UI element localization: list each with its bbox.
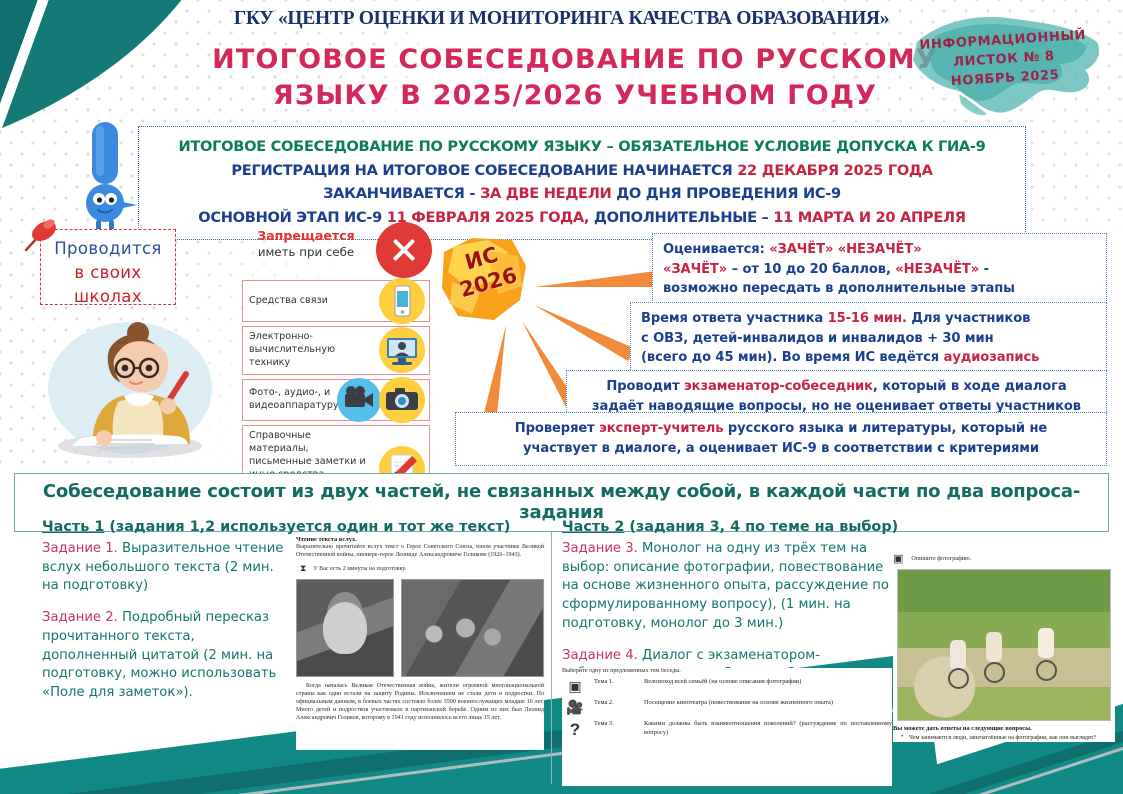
scan-body-text: Когда началась Великая Отечественная вой… bbox=[296, 682, 544, 722]
expert-info-box: Проверяет эксперт-учитель русского языка… bbox=[455, 412, 1107, 466]
timing-line-2: с ОВЗ, детей-инвалидов и инвалидов + 30 … bbox=[641, 329, 1096, 349]
prohibited-item-row: Фото-, аудио-, и видеоаппаратуру bbox=[242, 379, 430, 421]
photo-description-scan: ▣ Опишите фотографию. Вы можете дать отв… bbox=[893, 552, 1115, 742]
student-writing-illustration bbox=[18, 318, 236, 468]
timing-duration: 15-16 мин. bbox=[828, 311, 907, 326]
assessment-fail-label: «НЕЗАЧЁТ» bbox=[895, 262, 979, 277]
assessment-line-1-prefix: Оценивается: bbox=[663, 242, 769, 257]
page-title: ИТОГОВОЕ СОБЕСЕДОВАНИЕ ПО РУССКОМУ ЯЗЫКУ… bbox=[195, 42, 955, 115]
banner-line-4: ОСНОВНОЙ ЭТАП ИС-9 11 ФЕВРАЛЯ 2025 ГОДА,… bbox=[149, 206, 1015, 230]
theme-label: Тема 1. bbox=[594, 678, 638, 685]
examiner-line-1-prefix: Проводит bbox=[606, 379, 684, 394]
theme-text: Велопоход всей семьёй (на основе описани… bbox=[644, 678, 892, 687]
banner-line-3-suffix: ДО ДНЯ ПРОВЕДЕНИЯ ИС-9 bbox=[616, 185, 841, 202]
photo-questions-title: Вы можете дать ответы на следующие вопро… bbox=[893, 725, 1115, 732]
banner-line-4-prefix: ОСНОВНОЙ ЭТАП ИС-9 bbox=[198, 209, 387, 226]
movie-camera-icon: 🎥 bbox=[562, 699, 588, 716]
cross-icon bbox=[376, 222, 432, 278]
banner-line-3-prefix: ЗАКАНЧИВАЕТСЯ - bbox=[323, 185, 480, 202]
pushpin-icon bbox=[18, 214, 62, 258]
photo-camera-icon: ▣ bbox=[562, 678, 588, 695]
banner-line-4-main-date: 11 ФЕВРАЛЯ 2025 ГОДА, bbox=[387, 209, 589, 226]
banner-line-2-prefix: РЕГИСТРАЦИЯ НА ИТОГОВОЕ СОБЕСЕДОВАНИЕ НА… bbox=[231, 162, 737, 179]
part1-heading: Часть 1 (задания 1,2 используется один и… bbox=[42, 518, 510, 536]
examiner-line-1: Проводит экзаменатор-собеседник, который… bbox=[577, 377, 1096, 397]
parts-divider bbox=[551, 512, 552, 784]
banner-line-4-extra-dates: 11 МАРТА И 20 АПРЕЛЯ bbox=[773, 209, 965, 226]
venue-line-2: в своих bbox=[41, 261, 175, 285]
task-4-number: Задание 4. bbox=[562, 648, 638, 663]
photo-caption: Опишите фотографию. bbox=[911, 556, 971, 562]
prohibited-items-header: Запрещается иметь при себе bbox=[242, 228, 430, 280]
poster-canvas: ГКУ «ЦЕНТР ОЦЕНКИ И МОНИТОРИНГА КАЧЕСТВА… bbox=[0, 0, 1123, 794]
assessment-score-range: – от 10 до 20 баллов, bbox=[727, 262, 895, 277]
prohibited-item-label: Электронно-вычислительную технику bbox=[249, 331, 371, 370]
prohibited-item-row: Электронно-вычислительную технику bbox=[242, 326, 430, 375]
question-mark-icon: ? bbox=[562, 720, 588, 740]
timing-line-1-prefix: Время ответа участника bbox=[641, 311, 828, 326]
theme-label: Тема 2. bbox=[594, 699, 638, 706]
scan-heading: Чтение текста вслух. bbox=[296, 536, 544, 543]
smartphone-icon bbox=[379, 278, 425, 324]
expert-line-1-suffix: русского языка и литературы, который не bbox=[723, 421, 1047, 436]
timing-line-1: Время ответа участника 15-16 мин. Для уч… bbox=[641, 309, 1096, 329]
scan-timer-note: У Вас есть 2 минуты на подготовку. bbox=[313, 566, 406, 572]
banner-line-2-date: 22 ДЕКАБРЯ 2025 ГОДА bbox=[737, 162, 932, 179]
assessment-line-1: Оценивается: «ЗАЧЁТ» «НЕЗАЧЁТ» bbox=[663, 240, 1096, 260]
hourglass-icon: ⧗ bbox=[300, 563, 306, 574]
banner-line-2: РЕГИСТРАЦИЯ НА ИТОГОВОЕ СОБЕСЕДОВАНИЕ НА… bbox=[149, 159, 1015, 183]
assessment-line-1-values: «ЗАЧЁТ» «НЕЗАЧЁТ» bbox=[769, 242, 921, 257]
venue-line-3: школах bbox=[41, 285, 175, 309]
expert-line-1: Проверяет эксперт-учитель русского языка… bbox=[466, 419, 1096, 439]
banner-line-4-mid: ДОПОЛНИТЕЛЬНЫЕ – bbox=[589, 209, 773, 226]
theme-row: ▣ Тема 1. Велопоход всей семьёй (на осно… bbox=[562, 678, 892, 695]
theme-row: ? Тема 3. Какими должны быть взаимоотнош… bbox=[562, 720, 892, 740]
video-camera-icon bbox=[337, 378, 381, 422]
timing-info-box: Время ответа участника 15-16 мин. Для уч… bbox=[630, 302, 1107, 376]
expert-role: эксперт-учитель bbox=[599, 421, 723, 436]
theme-text: Какими должны быть взаимоотношения покол… bbox=[644, 720, 892, 737]
is-2026-sticker: ИС 2026 bbox=[442, 236, 528, 322]
prohibited-title: Запрещается bbox=[242, 228, 370, 243]
portrait-photo bbox=[296, 579, 394, 677]
photo-camera-icon bbox=[379, 377, 425, 423]
part1-subtitle: (задания 1,2 используется один и тот же … bbox=[104, 519, 510, 535]
examiner-role: экзаменатор-собеседник bbox=[684, 379, 873, 394]
banner-line-1: ИТОГОВОЕ СОБЕСЕДОВАНИЕ ПО РУССКОМУ ЯЗЫКУ… bbox=[149, 135, 1015, 159]
assessment-line-2: «ЗАЧЁТ» – от 10 до 20 баллов, «НЕЗАЧЁТ» … bbox=[663, 260, 1096, 280]
reading-task-scan: Чтение текста вслух. Выразительно прочит… bbox=[296, 536, 544, 750]
photo-camera-icon: ▣ bbox=[893, 552, 903, 565]
part1-tasks: Задание 1. Выразительное чтение вслух не… bbox=[42, 540, 292, 716]
themes-intro: Выберите одну из предложенных тем беседы… bbox=[562, 668, 892, 674]
family-cycling-photo bbox=[897, 569, 1111, 721]
task-1: Задание 1. Выразительное чтение вслух не… bbox=[42, 540, 292, 596]
assessment-info-box: Оценивается: «ЗАЧЁТ» «НЕЗАЧЁТ» «ЗАЧЁТ» –… bbox=[652, 233, 1107, 307]
prohibited-item-row: Средства связи bbox=[242, 280, 430, 322]
page-title-line2: ЯЗЫКУ В 2025/2026 УЧЕБНОМ ГОДУ bbox=[195, 78, 955, 114]
timing-line-3-prefix: (всего до 45 мин). Во время ИС ведётся bbox=[641, 350, 944, 365]
task-2: Задание 2. Подробный пересказ прочитанно… bbox=[42, 609, 292, 703]
part2-subtitle: (задания 3, 4 по теме на выбор) bbox=[624, 519, 898, 535]
themes-scan: Выберите одну из предложенных тем беседы… bbox=[562, 668, 892, 786]
task-2-number: Задание 2. bbox=[42, 610, 118, 625]
scan-intro: Выразительно прочитайте вслух текст о Ге… bbox=[296, 543, 544, 559]
banner-line-3-highlight: ЗА ДВЕ НЕДЕЛИ bbox=[480, 185, 616, 202]
theme-label: Тема 3. bbox=[594, 720, 638, 727]
examiner-line-1-suffix: , который в ходе диалога bbox=[873, 379, 1067, 394]
part2-label: Часть 2 bbox=[562, 519, 624, 535]
timing-line-3: (всего до 45 мин). Во время ИС ведётся а… bbox=[641, 348, 1096, 368]
photo-questions-list: Чем занимаются люди, запечатлённые на фо… bbox=[901, 735, 1115, 742]
timing-line-1-suffix: Для участников bbox=[907, 311, 1030, 326]
task-3: Задание 3. Монолог на одну из трёх тем н… bbox=[562, 540, 892, 634]
expert-line-1-prefix: Проверяет bbox=[515, 421, 599, 436]
prohibited-subtitle: иметь при себе bbox=[242, 245, 370, 259]
banner-line-3: ЗАКАНЧИВАЕТСЯ - ЗА ДВЕ НЕДЕЛИ ДО ДНЯ ПРО… bbox=[149, 182, 1015, 206]
task-1-number: Задание 1. bbox=[42, 541, 118, 556]
photo-question: Чем занимаются люди, запечатлённые на фо… bbox=[901, 735, 1115, 742]
part2-heading-text: Часть 2 (задания 3, 4 по теме на выбор) bbox=[562, 519, 898, 535]
exclamation-mark-mascot bbox=[62, 120, 148, 232]
theme-text: Посещение кинотеатра (повествование на о… bbox=[644, 699, 892, 708]
structure-banner-text: Собеседование состоит из двух частей, не… bbox=[43, 481, 1080, 523]
expert-line-2: участвует в диалоге, а оценивает ИС-9 в … bbox=[466, 439, 1096, 459]
assessment-pass-label: «ЗАЧЁТ» bbox=[663, 262, 727, 277]
scan-photo-strip bbox=[296, 579, 544, 677]
timing-audio-record: аудиозапись bbox=[944, 350, 1040, 365]
assessment-line-2-dash: - bbox=[979, 262, 989, 277]
info-sheet-badge: ИНФОРМАЦИОННЫЙ ЛИСТОК № 8 НОЯБРЬ 2025 bbox=[899, 8, 1109, 123]
part1-heading-text: Часть 1 (задания 1,2 используется один и… bbox=[42, 519, 510, 535]
part1-label: Часть 1 bbox=[42, 519, 104, 535]
prohibited-item-label: Средства связи bbox=[249, 295, 328, 308]
computer-icon bbox=[379, 327, 425, 373]
assessment-line-3: возможно пересдать в дополнительные этап… bbox=[663, 279, 1096, 299]
group-photo bbox=[401, 579, 544, 677]
page-title-line1: ИТОГОВОЕ СОБЕСЕДОВАНИЕ ПО РУССКОМУ bbox=[195, 42, 955, 78]
part2-heading: Часть 2 (задания 3, 4 по теме на выбор) bbox=[562, 518, 898, 536]
key-dates-banner: ИТОГОВОЕ СОБЕСЕДОВАНИЕ ПО РУССКОМУ ЯЗЫКУ… bbox=[138, 126, 1026, 240]
task-3-number: Задание 3. bbox=[562, 541, 638, 556]
theme-row: 🎥 Тема 2. Посещение кинотеатра (повество… bbox=[562, 699, 892, 716]
